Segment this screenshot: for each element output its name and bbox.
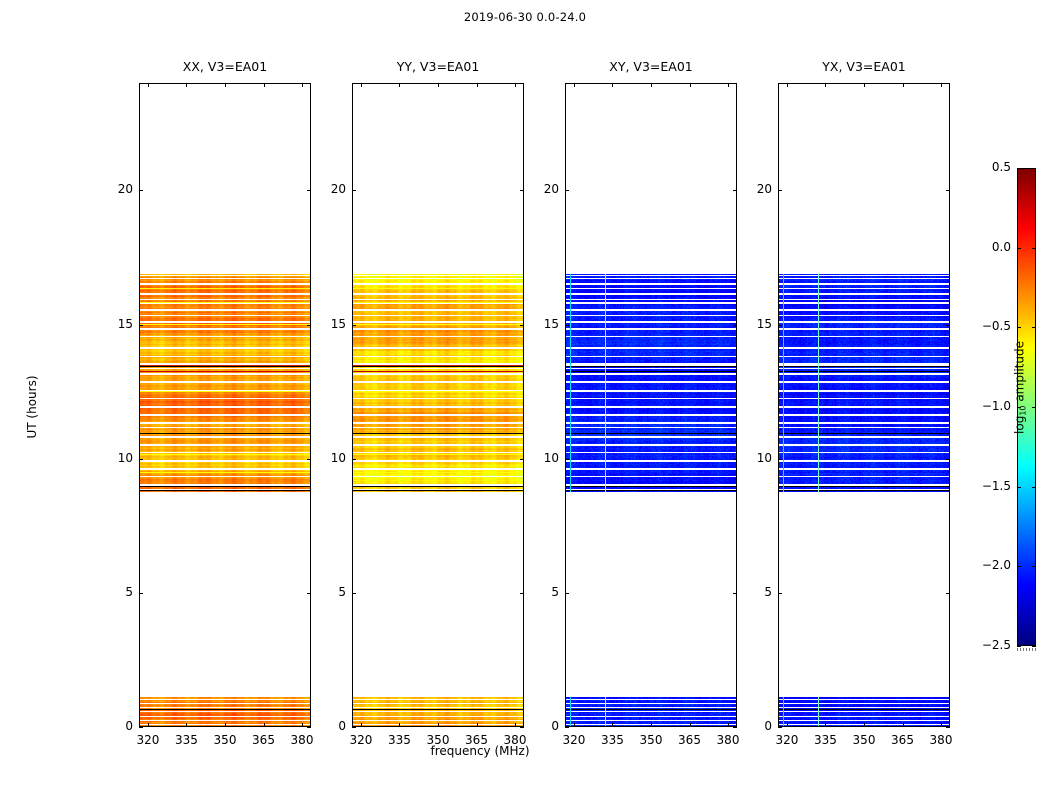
x-tick-mark-top — [612, 83, 613, 87]
y-tick-label: 10 — [525, 451, 559, 465]
y-tick-mark — [352, 593, 356, 594]
y-tick-mark-right — [307, 325, 311, 326]
y-tick-mark-right — [520, 325, 524, 326]
x-tick-mark-top — [690, 83, 691, 87]
y-tick-mark — [139, 727, 143, 728]
x-tick-mark-top — [903, 83, 904, 87]
x-tick-mark — [864, 723, 865, 727]
colorbar-tick-label: −2.0 — [967, 558, 1011, 572]
y-tick-label: 10 — [312, 451, 346, 465]
y-tick-label: 0 — [99, 719, 133, 733]
y-tick-mark-right — [946, 190, 950, 191]
y-tick-mark-right — [733, 190, 737, 191]
x-tick-label: 380 — [703, 733, 753, 747]
colorbar-tick-mark — [1017, 407, 1021, 408]
colorbar-tick-mark-right — [1032, 168, 1036, 169]
colorbar-tick-mark — [1017, 646, 1021, 647]
y-tick-mark-right — [946, 459, 950, 460]
colorbar-tick-label: −1.5 — [967, 479, 1011, 493]
x-tick-mark — [477, 723, 478, 727]
heatmap-image-xx — [140, 84, 311, 727]
y-tick-mark-right — [733, 593, 737, 594]
x-tick-mark — [225, 723, 226, 727]
x-tick-mark — [651, 723, 652, 727]
colorbar-tick-mark — [1017, 327, 1021, 328]
y-tick-label: 15 — [525, 317, 559, 331]
x-tick-mark — [361, 723, 362, 727]
colorbar-tick-mark — [1017, 248, 1021, 249]
colorbar-tick-label: 0.0 — [967, 240, 1011, 254]
x-tick-mark — [186, 723, 187, 727]
y-tick-mark — [565, 727, 569, 728]
y-tick-mark-right — [733, 325, 737, 326]
y-tick-mark — [565, 459, 569, 460]
colorbar-tick-mark — [1017, 487, 1021, 488]
y-tick-mark-right — [307, 190, 311, 191]
x-tick-mark — [438, 723, 439, 727]
x-tick-mark-top — [574, 83, 575, 87]
x-tick-mark-top — [651, 83, 652, 87]
x-tick-mark-top — [477, 83, 478, 87]
y-tick-label: 5 — [738, 585, 772, 599]
x-tick-mark — [574, 723, 575, 727]
colorbar-tick-mark-right — [1032, 646, 1036, 647]
colorbar-tick-mark — [1017, 566, 1021, 567]
x-tick-mark-top — [515, 83, 516, 87]
heatmap-image-yy — [353, 84, 524, 727]
x-tick-mark-top — [399, 83, 400, 87]
y-tick-mark — [139, 593, 143, 594]
y-tick-mark — [565, 593, 569, 594]
x-tick-mark-top — [941, 83, 942, 87]
x-tick-mark — [399, 723, 400, 727]
colorbar-tick-mark-right — [1032, 407, 1036, 408]
x-tick-label: 380 — [277, 733, 327, 747]
x-tick-mark — [728, 723, 729, 727]
x-tick-mark-top — [438, 83, 439, 87]
y-tick-mark-right — [307, 593, 311, 594]
y-tick-mark — [778, 593, 782, 594]
y-tick-mark — [139, 190, 143, 191]
figure-canvas: 2019-06-30 0.0-24.0 XX, V3=EA01 YY, V3=E… — [0, 0, 1050, 800]
y-tick-label: 15 — [312, 317, 346, 331]
colorbar-label-suffix: amplitude — [1013, 341, 1027, 405]
panel-title-yx: YX, V3=EA01 — [778, 59, 950, 74]
y-tick-mark-right — [520, 459, 524, 460]
x-tick-mark — [264, 723, 265, 727]
colorbar-label-prefix: log — [1013, 416, 1027, 434]
y-tick-mark-right — [307, 459, 311, 460]
y-tick-label: 10 — [738, 451, 772, 465]
colorbar-label: log10 amplitude — [1013, 318, 1028, 458]
heatmap-panel-xy[interactable] — [565, 83, 737, 727]
heatmap-image-yx — [779, 84, 950, 727]
colorbar-tick-mark-right — [1032, 327, 1036, 328]
x-tick-mark — [825, 723, 826, 727]
y-tick-label: 20 — [525, 182, 559, 196]
y-tick-label: 20 — [99, 182, 133, 196]
x-tick-label: 380 — [490, 733, 540, 747]
y-tick-mark — [565, 190, 569, 191]
panel-title-xy: XY, V3=EA01 — [565, 59, 737, 74]
y-tick-label: 15 — [99, 317, 133, 331]
y-tick-mark — [352, 190, 356, 191]
colorbar-under-marker — [1017, 648, 1036, 651]
heatmap-panel-yx[interactable] — [778, 83, 950, 727]
y-tick-label: 20 — [312, 182, 346, 196]
colorbar-tick-mark-right — [1032, 566, 1036, 567]
x-tick-mark-top — [787, 83, 788, 87]
x-tick-mark-top — [148, 83, 149, 87]
heatmap-image-xy — [566, 84, 737, 727]
y-tick-label: 20 — [738, 182, 772, 196]
colorbar-tick-label: 0.5 — [967, 160, 1011, 174]
y-tick-mark — [139, 325, 143, 326]
x-tick-mark-top — [728, 83, 729, 87]
x-tick-mark — [302, 723, 303, 727]
y-tick-label: 5 — [312, 585, 346, 599]
y-tick-mark — [565, 325, 569, 326]
colorbar-tick-mark-right — [1032, 248, 1036, 249]
y-tick-mark-right — [733, 727, 737, 728]
x-tick-mark — [903, 723, 904, 727]
y-tick-mark — [778, 459, 782, 460]
y-tick-mark-right — [307, 727, 311, 728]
panel-title-yy: YY, V3=EA01 — [352, 59, 524, 74]
figure-suptitle: 2019-06-30 0.0-24.0 — [0, 10, 1050, 24]
y-tick-label: 5 — [525, 585, 559, 599]
heatmap-panel-yy[interactable] — [352, 83, 524, 727]
colorbar-tick-label: −2.5 — [967, 638, 1011, 652]
y-tick-mark — [139, 459, 143, 460]
y-tick-mark-right — [520, 727, 524, 728]
x-tick-mark-top — [225, 83, 226, 87]
y-tick-mark-right — [946, 593, 950, 594]
heatmap-panel-xx[interactable] — [139, 83, 311, 727]
y-tick-mark — [778, 325, 782, 326]
y-tick-mark-right — [520, 593, 524, 594]
y-tick-label: 0 — [312, 719, 346, 733]
x-tick-mark — [148, 723, 149, 727]
y-tick-mark-right — [946, 727, 950, 728]
y-tick-mark — [352, 459, 356, 460]
y-tick-label: 0 — [525, 719, 559, 733]
y-tick-mark — [778, 727, 782, 728]
x-tick-mark-top — [361, 83, 362, 87]
x-tick-mark-top — [825, 83, 826, 87]
x-tick-mark — [515, 723, 516, 727]
y-tick-label: 10 — [99, 451, 133, 465]
panel-title-xx: XX, V3=EA01 — [139, 59, 311, 74]
y-tick-mark — [352, 325, 356, 326]
y-axis-label: UT (hours) — [25, 347, 39, 467]
y-tick-mark — [778, 190, 782, 191]
colorbar-tick-label: −1.0 — [967, 399, 1011, 413]
y-tick-mark-right — [520, 190, 524, 191]
y-tick-label: 15 — [738, 317, 772, 331]
y-tick-label: 0 — [738, 719, 772, 733]
x-tick-mark-top — [864, 83, 865, 87]
colorbar-tick-mark — [1017, 168, 1021, 169]
colorbar-tick-mark-right — [1032, 487, 1036, 488]
x-tick-mark-top — [302, 83, 303, 87]
x-tick-mark — [941, 723, 942, 727]
x-tick-mark-top — [186, 83, 187, 87]
x-tick-label: 380 — [916, 733, 966, 747]
x-tick-mark — [612, 723, 613, 727]
x-tick-mark — [787, 723, 788, 727]
y-tick-mark — [352, 727, 356, 728]
y-tick-mark-right — [946, 325, 950, 326]
y-tick-label: 5 — [99, 585, 133, 599]
colorbar-tick-label: −0.5 — [967, 319, 1011, 333]
x-tick-mark — [690, 723, 691, 727]
x-tick-mark-top — [264, 83, 265, 87]
y-tick-mark-right — [733, 459, 737, 460]
